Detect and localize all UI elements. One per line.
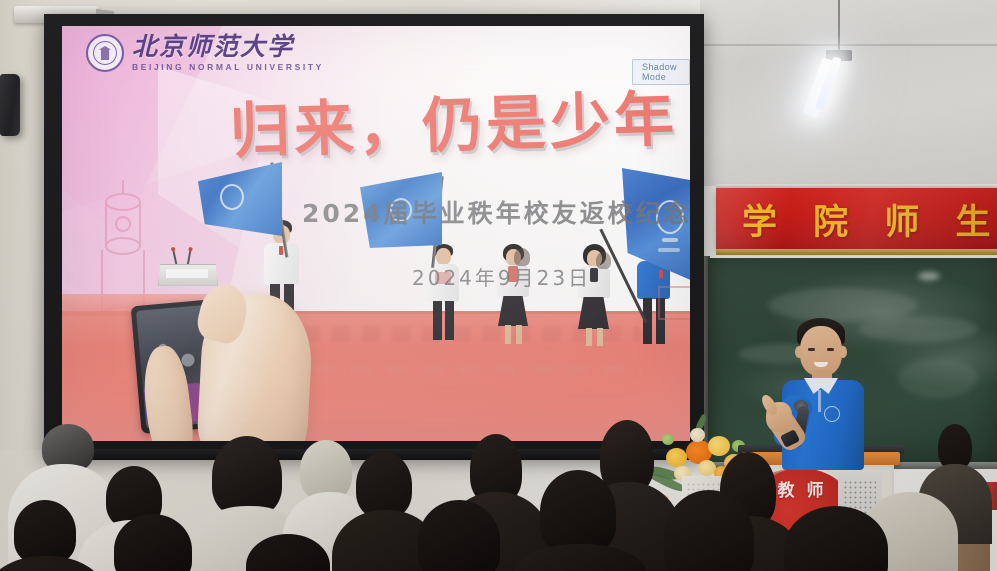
audience-member-front-4 xyxy=(644,490,774,571)
university-name-cn: 北京师范大学 xyxy=(132,34,324,59)
lecture-hall-photo: 学 院 师 生 xyxy=(0,0,997,571)
wall-seam xyxy=(700,44,997,46)
upper-wall xyxy=(700,0,997,186)
audience-member-front-2 xyxy=(524,470,634,571)
projection-screen: 北京师范大学 BEIJING NORMAL UNIVERSITY Shadow … xyxy=(62,26,690,441)
university-name-en: BEIJING NORMAL UNIVERSITY xyxy=(132,62,324,72)
light-cord xyxy=(838,0,840,52)
slide-date: 2024年9月23日 xyxy=(412,262,591,291)
university-seal-icon xyxy=(86,34,124,72)
slide-title: 归来，仍是少年 xyxy=(229,90,671,162)
banner-bottom-trim xyxy=(716,249,997,255)
speaker-person xyxy=(770,310,888,460)
slide-filming-hand xyxy=(154,294,334,441)
university-logo: 北京师范大学 BEIJING NORMAL UNIVERSITY xyxy=(86,34,324,72)
slide-person-flagbearer-2 xyxy=(422,244,464,340)
shadow-mode-badge[interactable]: Shadow Mode xyxy=(632,59,690,85)
slide-background-structure xyxy=(658,286,690,320)
audience-member-left-3 xyxy=(0,500,96,571)
wall-speaker-box xyxy=(0,74,20,136)
banner-sheen xyxy=(716,188,997,250)
audience-member-front-5 xyxy=(760,506,910,571)
audience-member-front-1 xyxy=(100,514,220,571)
speaker-head xyxy=(800,326,842,376)
shirt-logo-icon xyxy=(824,406,840,422)
slide-crowd-head-2 xyxy=(596,252,611,269)
slide-subtitle: 2024届毕业秩年校友返校纪念大会 xyxy=(302,194,682,230)
audience-member-front-3 xyxy=(400,500,520,571)
audience-member-front-6 xyxy=(236,534,346,571)
wall-banner: 学 院 师 生 xyxy=(716,188,997,250)
